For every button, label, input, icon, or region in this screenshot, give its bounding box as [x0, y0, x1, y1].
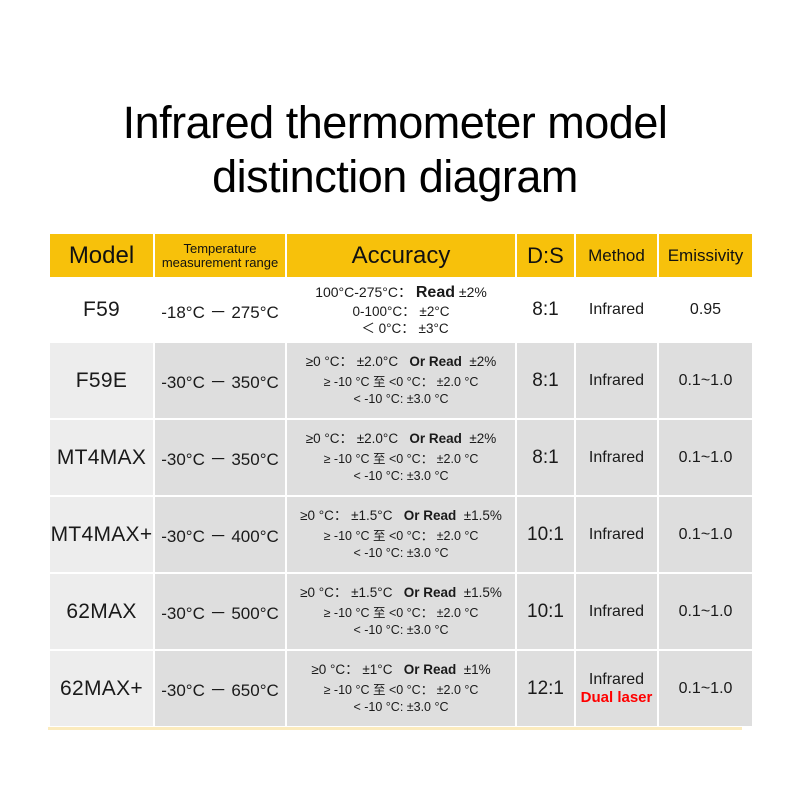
accuracy-line-1: 100°C-275°C： Read ±2% [287, 285, 515, 301]
method-secondary-label: Dual laser [576, 689, 657, 707]
accuracy-line-1: ≥0 °C： ±2.0°C Or Read ±2% [287, 432, 515, 446]
method-primary-label: Infrared [576, 372, 657, 390]
column-header-emissivity: Emissivity [659, 234, 752, 277]
column-header-accuracy: Accuracy [287, 234, 515, 277]
cell-model: 62MAX [50, 574, 153, 649]
table-row: 62MAX+-30°C － 650°C≥0 °C： ±1°C Or Read ±… [50, 651, 752, 726]
cell-method: Infrared [576, 497, 657, 572]
table-row: MT4MAX-30°C － 350°C≥0 °C： ±2.0°C Or Read… [50, 420, 752, 495]
method-primary-label: Infrared [576, 671, 657, 689]
page-root: Infrared thermometer model distinction d… [0, 0, 790, 790]
table-row: 62MAX-30°C － 500°C≥0 °C： ±1.5°C Or Read … [50, 574, 752, 649]
cell-distance-to-spot: 10:1 [517, 574, 574, 649]
page-title: Infrared thermometer model distinction d… [60, 96, 730, 204]
cell-distance-to-spot: 8:1 [517, 420, 574, 495]
accuracy-emphasis: Or Read [409, 431, 462, 446]
accuracy-line-2: 0-100°C： ±2°C [287, 305, 515, 319]
accuracy-line-3: < -10 °C: ±3.0 °C [287, 470, 515, 483]
column-header-model: Model [50, 234, 153, 277]
cell-accuracy: ≥0 °C： ±1.5°C Or Read ±1.5%≥ -10 °C 至 <0… [287, 497, 515, 572]
cell-model: F59 [50, 279, 153, 341]
cell-distance-to-spot: 10:1 [517, 497, 574, 572]
accuracy-line-1: ≥0 °C： ±1°C Or Read ±1% [287, 663, 515, 677]
accuracy-line-2: ≥ -10 °C 至 <0 °C： ±2.0 °C [287, 607, 515, 620]
cell-emissivity: 0.1~1.0 [659, 574, 752, 649]
accuracy-line-1: ≥0 °C： ±1.5°C Or Read ±1.5% [287, 586, 515, 600]
accuracy-emphasis: Or Read [404, 585, 457, 600]
column-header-range: Temperature measurement range [155, 234, 285, 277]
table-row: F59E-30°C － 350°C≥0 °C： ±2.0°C Or Read ±… [50, 343, 752, 418]
cell-method: Infrared [576, 279, 657, 341]
accuracy-emphasis: Or Read [409, 354, 462, 369]
cell-method: Infrared [576, 420, 657, 495]
accuracy-line-1: ≥0 °C： ±1.5°C Or Read ±1.5% [287, 509, 515, 523]
cell-model: MT4MAX+ [50, 497, 153, 572]
method-primary-label: Infrared [576, 301, 657, 319]
cell-accuracy: ≥0 °C： ±2.0°C Or Read ±2%≥ -10 °C 至 <0 °… [287, 343, 515, 418]
accuracy-line-2: ≥ -10 °C 至 <0 °C： ±2.0 °C [287, 453, 515, 466]
accuracy-line-2: ≥ -10 °C 至 <0 °C： ±2.0 °C [287, 376, 515, 389]
cell-emissivity: 0.1~1.0 [659, 343, 752, 418]
cell-temperature-range: -30°C － 500°C [155, 574, 285, 649]
accuracy-line-3: < -10 °C: ±3.0 °C [287, 624, 515, 637]
cell-emissivity: 0.1~1.0 [659, 651, 752, 726]
cell-method: InfraredDual laser [576, 651, 657, 726]
method-primary-label: Infrared [576, 526, 657, 544]
accuracy-line-2: ≥ -10 °C 至 <0 °C： ±2.0 °C [287, 684, 515, 697]
cell-model: 62MAX+ [50, 651, 153, 726]
cell-distance-to-spot: 8:1 [517, 343, 574, 418]
cell-method: Infrared [576, 343, 657, 418]
bottom-divider [48, 727, 742, 730]
accuracy-line-3: < -10 °C: ±3.0 °C [287, 393, 515, 406]
cell-temperature-range: -30°C － 350°C [155, 420, 285, 495]
accuracy-line-1: ≥0 °C： ±2.0°C Or Read ±2% [287, 355, 515, 369]
table-row: MT4MAX+-30°C － 400°C≥0 °C： ±1.5°C Or Rea… [50, 497, 752, 572]
cell-accuracy: 100°C-275°C： Read ±2%0-100°C： ±2°C＜ 0°C：… [287, 279, 515, 341]
cell-emissivity: 0.1~1.0 [659, 420, 752, 495]
accuracy-emphasis: Read [416, 284, 455, 301]
column-header-method: Method [576, 234, 657, 277]
model-comparison-table: Model Temperature measurement range Accu… [48, 232, 754, 728]
table-header: Model Temperature measurement range Accu… [50, 234, 752, 277]
cell-accuracy: ≥0 °C： ±1.5°C Or Read ±1.5%≥ -10 °C 至 <0… [287, 574, 515, 649]
accuracy-line-2: ≥ -10 °C 至 <0 °C： ±2.0 °C [287, 530, 515, 543]
accuracy-line-3: < -10 °C: ±3.0 °C [287, 701, 515, 714]
cell-emissivity: 0.95 [659, 279, 752, 341]
cell-accuracy: ≥0 °C： ±2.0°C Or Read ±2%≥ -10 °C 至 <0 °… [287, 420, 515, 495]
comparison-table-container: Model Temperature measurement range Accu… [48, 232, 742, 728]
accuracy-emphasis: Or Read [404, 662, 457, 677]
cell-temperature-range: -18°C － 275°C [155, 279, 285, 341]
header-row: Model Temperature measurement range Accu… [50, 234, 752, 277]
accuracy-line-3: ＜ 0°C： ±3°C [287, 322, 515, 336]
accuracy-emphasis: Or Read [404, 508, 457, 523]
cell-distance-to-spot: 8:1 [517, 279, 574, 341]
method-primary-label: Infrared [576, 449, 657, 467]
cell-accuracy: ≥0 °C： ±1°C Or Read ±1%≥ -10 °C 至 <0 °C：… [287, 651, 515, 726]
table-row: F59-18°C － 275°C100°C-275°C： Read ±2%0-1… [50, 279, 752, 341]
cell-distance-to-spot: 12:1 [517, 651, 574, 726]
column-header-ds: D:S [517, 234, 574, 277]
cell-method: Infrared [576, 574, 657, 649]
cell-temperature-range: -30°C － 650°C [155, 651, 285, 726]
cell-emissivity: 0.1~1.0 [659, 497, 752, 572]
cell-model: F59E [50, 343, 153, 418]
method-primary-label: Infrared [576, 603, 657, 621]
cell-temperature-range: -30°C － 350°C [155, 343, 285, 418]
cell-temperature-range: -30°C － 400°C [155, 497, 285, 572]
cell-model: MT4MAX [50, 420, 153, 495]
accuracy-line-3: < -10 °C: ±3.0 °C [287, 547, 515, 560]
table-body: F59-18°C － 275°C100°C-275°C： Read ±2%0-1… [50, 279, 752, 726]
